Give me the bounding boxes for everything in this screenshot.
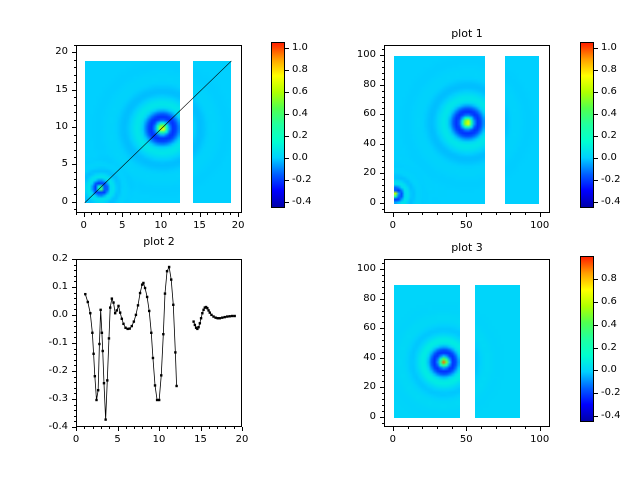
data-point xyxy=(219,317,221,319)
plot-1-image-panel xyxy=(384,45,550,213)
y-minor-tick xyxy=(382,423,384,424)
y-tick-label: 40 xyxy=(332,352,376,363)
axis-xlabel: plot 2 xyxy=(76,235,242,248)
x-tick xyxy=(393,427,394,431)
y-minor-tick xyxy=(74,382,76,383)
colorbar-tick-label: 0.8 xyxy=(292,64,308,75)
y-tick xyxy=(380,358,384,359)
y-tick-label: -0.3 xyxy=(24,393,68,404)
y-minor-tick xyxy=(382,322,384,323)
x-minor-tick xyxy=(215,213,216,215)
data-point xyxy=(221,316,223,318)
y-tick xyxy=(72,343,76,344)
y-minor-tick xyxy=(74,416,76,417)
colorbar-tick xyxy=(594,180,598,181)
y-minor-tick xyxy=(382,370,384,371)
data-point xyxy=(199,322,201,324)
y-minor-tick xyxy=(382,49,384,50)
data-point xyxy=(150,332,152,334)
data-point xyxy=(160,374,162,376)
y-minor-tick xyxy=(74,135,76,136)
y-minor-tick xyxy=(382,79,384,80)
data-point xyxy=(175,385,177,387)
data-point xyxy=(129,327,131,329)
y-tick-label: 80 xyxy=(332,79,376,90)
x-tick xyxy=(201,427,202,431)
x-tick-label: 100 xyxy=(520,220,560,231)
y-minor-tick xyxy=(74,405,76,406)
y-tick-label: 0.1 xyxy=(24,281,68,292)
x-minor-tick xyxy=(223,213,224,215)
data-point xyxy=(148,310,150,312)
y-minor-tick xyxy=(74,105,76,106)
colorbar-tick xyxy=(285,202,289,203)
y-tick-label: 60 xyxy=(332,108,376,119)
colorbar-tick xyxy=(594,325,598,326)
y-minor-tick xyxy=(382,411,384,412)
data-point xyxy=(206,307,208,309)
y-minor-tick xyxy=(74,265,76,266)
x-minor-tick xyxy=(496,213,497,215)
y-minor-tick xyxy=(74,388,76,389)
data-point xyxy=(109,306,111,308)
data-point xyxy=(98,343,100,345)
data-point xyxy=(84,293,86,295)
x-minor-tick xyxy=(76,213,77,215)
x-minor-tick xyxy=(481,213,482,215)
y-minor-tick xyxy=(382,281,384,282)
colorbar-tick xyxy=(594,202,598,203)
y-minor-tick xyxy=(74,82,76,83)
colorbar xyxy=(271,42,285,208)
colorbar-tick-label: 0.6 xyxy=(601,86,617,97)
x-tick xyxy=(161,213,162,217)
data-point xyxy=(87,301,89,303)
x-minor-tick xyxy=(510,427,511,429)
x-minor-tick xyxy=(99,213,100,215)
y-minor-tick xyxy=(382,352,384,353)
x-minor-tick xyxy=(93,427,94,429)
y-minor-tick xyxy=(382,209,384,210)
y-minor-tick xyxy=(74,270,76,271)
y-minor-tick xyxy=(382,167,384,168)
data-point xyxy=(170,278,172,280)
y-minor-tick xyxy=(382,316,384,317)
data-point xyxy=(158,399,160,401)
y-tick-label: 20 xyxy=(24,46,68,57)
y-minor-tick xyxy=(74,293,76,294)
y-tick xyxy=(72,202,76,203)
y-minor-tick xyxy=(382,197,384,198)
y-minor-tick xyxy=(382,393,384,394)
x-tick xyxy=(466,213,467,217)
y-minor-tick xyxy=(382,375,384,376)
colorbar-gradient xyxy=(581,257,593,421)
x-minor-tick xyxy=(84,427,85,429)
x-minor-tick xyxy=(167,427,168,429)
x-minor-tick xyxy=(408,213,409,215)
colorbar-tick xyxy=(594,70,598,71)
colorbar-tick xyxy=(594,136,598,137)
data-point xyxy=(114,312,116,314)
data-point xyxy=(200,317,202,319)
y-minor-tick xyxy=(382,73,384,74)
y-tick-label: 10 xyxy=(24,121,68,132)
x-tick-label: 10 xyxy=(139,434,179,445)
y-tick-label: 15 xyxy=(24,84,68,95)
colorbar-tick xyxy=(285,158,289,159)
x-minor-tick xyxy=(145,213,146,215)
data-point xyxy=(207,309,209,311)
y-tick-label: 100 xyxy=(332,49,376,60)
y-minor-tick xyxy=(74,45,76,46)
y-minor-tick xyxy=(382,108,384,109)
y-tick-label: 0 xyxy=(332,411,376,422)
colorbar-tick-label: 0.4 xyxy=(601,319,617,330)
colorbar-tick-label: 0.6 xyxy=(292,86,308,97)
y-tick-label: 80 xyxy=(332,293,376,304)
data-point xyxy=(164,292,166,294)
data-point xyxy=(172,304,174,306)
data-point xyxy=(152,357,154,359)
x-minor-tick xyxy=(225,427,226,429)
y-minor-tick xyxy=(382,61,384,62)
y-minor-tick xyxy=(382,364,384,365)
colorbar-tick-label: 0.2 xyxy=(601,342,617,353)
data-point xyxy=(224,316,226,318)
y-tick-label: -0.2 xyxy=(24,365,68,376)
y-minor-tick xyxy=(74,410,76,411)
x-minor-tick xyxy=(126,427,127,429)
data-point xyxy=(135,314,137,316)
x-minor-tick xyxy=(422,427,423,429)
data-point xyxy=(197,326,199,328)
x-minor-tick xyxy=(192,427,193,429)
data-point xyxy=(103,382,105,384)
y-tick-label: 20 xyxy=(332,381,376,392)
colorbar-tick-label: -0.2 xyxy=(601,174,621,185)
data-point xyxy=(97,389,99,391)
data-point xyxy=(101,332,103,334)
y-minor-tick xyxy=(74,194,76,195)
plot-2-line-panel xyxy=(76,259,242,427)
data-point xyxy=(144,287,146,289)
line-segment-b xyxy=(194,307,235,329)
y-minor-tick xyxy=(74,354,76,355)
y-tick xyxy=(380,387,384,388)
y-minor-tick xyxy=(382,191,384,192)
x-minor-tick xyxy=(153,213,154,215)
line-series-group xyxy=(77,260,243,428)
x-minor-tick xyxy=(422,213,423,215)
y-tick xyxy=(380,299,384,300)
x-minor-tick xyxy=(452,213,453,215)
y-minor-tick xyxy=(382,287,384,288)
data-point xyxy=(121,318,123,320)
data-point xyxy=(142,282,144,284)
x-minor-tick xyxy=(525,213,526,215)
y-tick xyxy=(380,328,384,329)
x-minor-tick xyxy=(209,427,210,429)
colorbar-tick-label: 0.4 xyxy=(292,108,308,119)
x-tick-label: 15 xyxy=(180,220,220,231)
colorbar-tick-label: -0.2 xyxy=(601,387,621,398)
colorbar xyxy=(580,256,594,422)
y-minor-tick xyxy=(382,334,384,335)
x-minor-tick xyxy=(115,213,116,215)
y-minor-tick xyxy=(74,349,76,350)
y-minor-tick xyxy=(382,97,384,98)
y-minor-tick xyxy=(74,332,76,333)
data-point xyxy=(202,309,204,311)
y-minor-tick xyxy=(74,281,76,282)
figure-canvas: 0510152005101520plot 21.00.80.60.40.20.0… xyxy=(0,0,640,480)
colorbar-tick xyxy=(285,114,289,115)
y-tick xyxy=(72,90,76,91)
y-tick xyxy=(380,85,384,86)
data-point xyxy=(210,314,212,316)
data-point xyxy=(131,325,133,327)
y-tick-label: 0 xyxy=(24,196,68,207)
y-minor-tick xyxy=(382,381,384,382)
plot-title: plot 3 xyxy=(384,241,550,254)
y-minor-tick xyxy=(74,309,76,310)
data-point xyxy=(95,399,97,401)
data-point xyxy=(89,312,91,314)
y-tick xyxy=(72,371,76,372)
x-tick xyxy=(466,427,467,431)
y-minor-tick xyxy=(74,60,76,61)
colorbar-tick-label: -0.4 xyxy=(292,196,312,207)
x-tick-label: 0 xyxy=(373,434,413,445)
y-tick xyxy=(380,114,384,115)
colorbar-tick xyxy=(285,48,289,49)
x-tick-label: 50 xyxy=(446,220,486,231)
data-point xyxy=(162,333,164,335)
data-point xyxy=(212,315,214,317)
data-point xyxy=(112,301,114,303)
data-point xyxy=(104,418,106,420)
data-point xyxy=(122,323,124,325)
data-point xyxy=(192,320,194,322)
x-minor-tick xyxy=(217,427,218,429)
y-minor-tick xyxy=(74,365,76,366)
x-tick-label: 100 xyxy=(520,434,560,445)
image-patch-left xyxy=(394,56,485,204)
x-minor-tick xyxy=(142,427,143,429)
x-minor-tick xyxy=(107,213,108,215)
y-tick-label: 5 xyxy=(24,158,68,169)
colorbar-tick xyxy=(594,92,598,93)
x-tick-label: 0 xyxy=(56,434,96,445)
plot-2-image-panel xyxy=(76,45,242,213)
x-tick xyxy=(540,213,541,217)
x-minor-tick xyxy=(510,213,511,215)
y-minor-tick xyxy=(382,126,384,127)
colorbar-tick-label: -0.4 xyxy=(601,196,621,207)
y-minor-tick xyxy=(382,132,384,133)
y-minor-tick xyxy=(382,305,384,306)
colorbar-tick-label: 0.8 xyxy=(601,64,617,75)
x-tick xyxy=(393,213,394,217)
image-patch-left xyxy=(394,285,460,418)
x-minor-tick xyxy=(525,427,526,429)
y-minor-tick xyxy=(382,311,384,312)
y-minor-tick xyxy=(74,209,76,210)
y-tick xyxy=(72,399,76,400)
image-patch-right xyxy=(475,285,520,418)
colorbar-tick xyxy=(594,302,598,303)
colorbar-tick xyxy=(594,114,598,115)
x-tick-label: 10 xyxy=(141,220,181,231)
diagonal-line xyxy=(77,46,243,214)
colorbar-tick-label: -0.4 xyxy=(601,410,621,421)
data-point xyxy=(226,315,228,317)
y-tick xyxy=(380,144,384,145)
y-minor-tick xyxy=(382,156,384,157)
y-tick-label: 0 xyxy=(332,197,376,208)
y-tick xyxy=(72,427,76,428)
data-point xyxy=(126,328,128,330)
y-tick-label: 0.0 xyxy=(24,309,68,320)
colorbar-tick-label: 0.2 xyxy=(601,130,617,141)
y-tick-label: -0.1 xyxy=(24,337,68,348)
data-point xyxy=(94,375,96,377)
x-tick xyxy=(200,213,201,217)
data-point xyxy=(91,332,93,334)
data-point xyxy=(102,350,104,352)
data-point xyxy=(99,309,101,311)
x-minor-tick xyxy=(481,427,482,429)
y-tick xyxy=(380,173,384,174)
colorbar-tick xyxy=(285,180,289,181)
x-minor-tick xyxy=(151,427,152,429)
data-point xyxy=(194,324,196,326)
colorbar-tick xyxy=(594,416,598,417)
colorbar-tick xyxy=(285,92,289,93)
data-point xyxy=(124,327,126,329)
x-tick-label: 50 xyxy=(446,434,486,445)
x-minor-tick xyxy=(130,213,131,215)
image-patch-right xyxy=(505,56,539,204)
y-minor-tick xyxy=(74,172,76,173)
x-minor-tick xyxy=(234,427,235,429)
colorbar-tick xyxy=(594,279,598,280)
colorbar-tick-label: 0.8 xyxy=(601,273,617,284)
colorbar-tick-label: 0.0 xyxy=(292,152,308,163)
x-tick xyxy=(122,213,123,217)
data-point xyxy=(116,309,118,311)
data-point xyxy=(156,399,158,401)
x-minor-tick xyxy=(437,427,438,429)
colorbar-gradient xyxy=(581,43,593,207)
data-point xyxy=(106,379,108,381)
x-minor-tick xyxy=(192,213,193,215)
x-minor-tick xyxy=(176,427,177,429)
y-minor-tick xyxy=(74,75,76,76)
y-tick xyxy=(72,315,76,316)
colorbar-tick-label: 0.0 xyxy=(601,152,617,163)
x-minor-tick xyxy=(184,427,185,429)
y-minor-tick xyxy=(74,326,76,327)
y-minor-tick xyxy=(74,377,76,378)
colorbar-tick-label: 1.0 xyxy=(292,42,308,53)
colorbar-tick-label: 1.0 xyxy=(601,42,617,53)
x-minor-tick xyxy=(134,427,135,429)
data-point xyxy=(111,297,113,299)
y-minor-tick xyxy=(382,102,384,103)
y-minor-tick xyxy=(382,346,384,347)
y-minor-tick xyxy=(74,187,76,188)
y-tick-label: 0.2 xyxy=(24,253,68,264)
x-minor-tick xyxy=(496,427,497,429)
y-tick xyxy=(380,203,384,204)
data-point xyxy=(168,266,170,268)
data-point xyxy=(146,296,148,298)
colorbar-tick-label: 0.2 xyxy=(292,130,308,141)
data-point xyxy=(214,316,216,318)
y-minor-tick xyxy=(74,120,76,121)
colorbar-tick xyxy=(594,158,598,159)
data-point xyxy=(117,305,119,307)
y-minor-tick xyxy=(382,340,384,341)
y-minor-tick xyxy=(74,321,76,322)
y-minor-tick xyxy=(382,293,384,294)
y-minor-tick xyxy=(74,393,76,394)
x-tick-label: 20 xyxy=(218,220,258,231)
y-tick xyxy=(72,287,76,288)
colorbar-tick-label: 0.0 xyxy=(601,364,617,375)
x-minor-tick xyxy=(91,213,92,215)
colorbar xyxy=(580,42,594,208)
x-tick-label: 20 xyxy=(222,434,262,445)
y-tick xyxy=(380,417,384,418)
y-tick xyxy=(72,259,76,260)
x-minor-tick xyxy=(169,213,170,215)
y-minor-tick xyxy=(74,157,76,158)
colorbar-tick xyxy=(594,48,598,49)
y-tick-label: -0.4 xyxy=(24,421,68,432)
y-tick xyxy=(380,55,384,56)
y-tick xyxy=(72,52,76,53)
y-tick xyxy=(72,127,76,128)
y-minor-tick xyxy=(74,97,76,98)
y-minor-tick xyxy=(382,399,384,400)
x-minor-tick xyxy=(452,427,453,429)
data-point xyxy=(154,384,156,386)
y-tick xyxy=(72,164,76,165)
colorbar-tick-label: 0.6 xyxy=(601,296,617,307)
colorbar-tick xyxy=(594,348,598,349)
data-point xyxy=(174,351,176,353)
y-tick xyxy=(380,269,384,270)
y-minor-tick xyxy=(74,298,76,299)
x-tick-label: 0 xyxy=(64,220,104,231)
x-minor-tick xyxy=(207,213,208,215)
y-minor-tick xyxy=(74,421,76,422)
x-minor-tick xyxy=(437,213,438,215)
y-minor-tick xyxy=(74,142,76,143)
x-minor-tick xyxy=(230,213,231,215)
data-point xyxy=(92,353,94,355)
x-minor-tick xyxy=(138,213,139,215)
plot-3-image-panel xyxy=(384,259,550,427)
y-minor-tick xyxy=(74,304,76,305)
x-minor-tick xyxy=(176,213,177,215)
data-point xyxy=(216,317,218,319)
y-tick-label: 40 xyxy=(332,138,376,149)
x-minor-tick xyxy=(101,427,102,429)
